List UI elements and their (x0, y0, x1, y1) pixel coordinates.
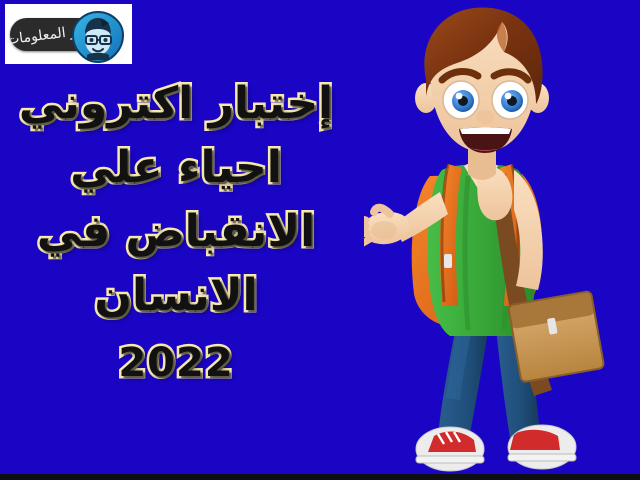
boy-with-glasses-icon (71, 10, 125, 64)
headline-block: إختبار اكتروني احياء علي الانقباض في الا… (0, 72, 352, 392)
headline-line-4: الانسان (0, 264, 352, 328)
satchel-bag (508, 291, 604, 382)
headline-line-3: الانقباض في (0, 200, 352, 264)
cartoon-schoolboy-illustration (364, 6, 632, 476)
brand-logo-badge[interactable]: سنتر المعلومات (3, 2, 134, 66)
head (415, 7, 549, 153)
headline-line-2: احياء علي (0, 136, 352, 200)
open-palm-hand (364, 208, 412, 247)
left-shoe (416, 427, 484, 471)
right-shoe (508, 425, 576, 469)
headline-year: 2022 (0, 334, 352, 392)
logo-inner-frame: سنتر المعلومات (8, 7, 129, 61)
bottom-edge-strip (0, 474, 640, 480)
headline-line-1: إختبار اكتروني (0, 72, 352, 136)
poster-canvas: إختبار اكتروني احياء علي الانقباض في الا… (0, 0, 640, 480)
